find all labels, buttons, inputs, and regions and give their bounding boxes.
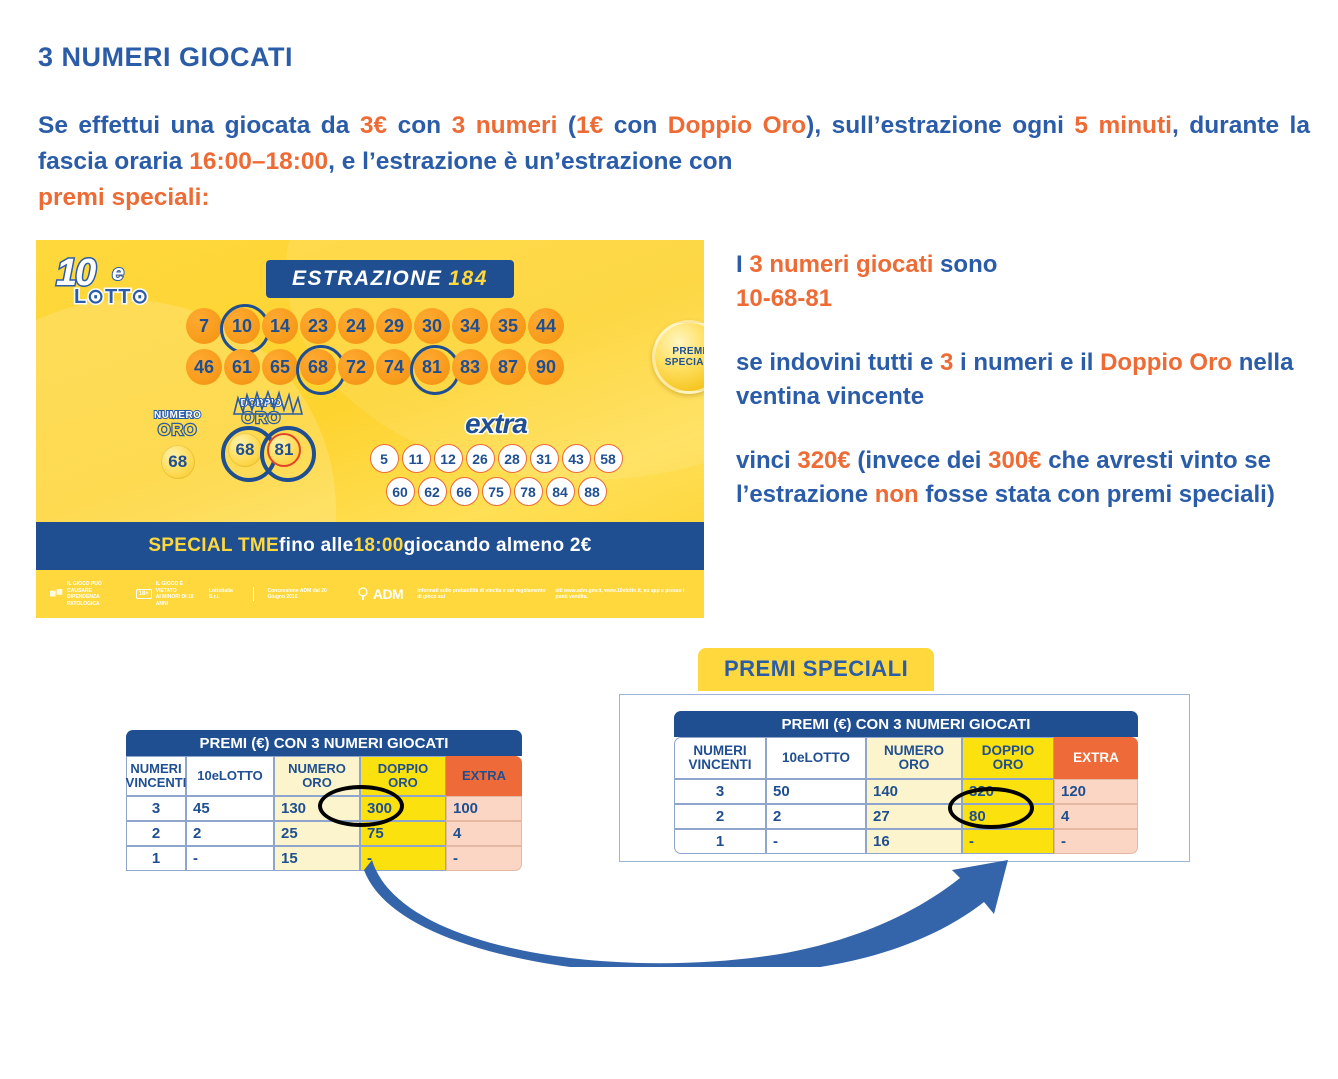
age-badge-icon: 18+ bbox=[136, 589, 152, 600]
ticket-legal-footer: IL GIOCO PUÒ CAUSAREDIPENDENZA PATOLOGIC… bbox=[36, 570, 704, 618]
seal-text: PREMISPECIALI bbox=[665, 346, 704, 368]
estrazione-number: 184 bbox=[448, 267, 488, 290]
intro-doppio-oro: Doppio Oro bbox=[668, 112, 806, 139]
header-line: EXTRA bbox=[1073, 750, 1119, 765]
extra-block: extra 511122628314358 60626675788488 bbox=[362, 408, 630, 510]
number-ball-23: 23 bbox=[300, 308, 336, 344]
table-cell-r1-c2: 25 bbox=[274, 821, 360, 846]
table-cell-r1-c4: 4 bbox=[446, 821, 522, 846]
main-numbers-row-1: 7101423242930343544 bbox=[186, 308, 564, 344]
table-cell-r1-c1: 2 bbox=[766, 804, 866, 829]
explanation-paragraph-3: vinci 320€ (invece dei 300€ che avresti … bbox=[736, 444, 1316, 512]
prize-table-special-title: PREMI (€) CON 3 NUMERI GIOCATI bbox=[674, 711, 1138, 737]
table-cell-r2-c3: - bbox=[962, 829, 1054, 854]
header-line: VINCENTI bbox=[688, 757, 751, 772]
numero-oro-label-big: ORO bbox=[154, 422, 201, 439]
explanation-paragraph-2: se indovini tutti e 3 i numeri e il Dopp… bbox=[736, 346, 1316, 414]
number-ball-35: 35 bbox=[490, 308, 526, 344]
extra-logo: extra bbox=[362, 408, 630, 440]
header-line: EXTRA bbox=[462, 768, 506, 783]
p3-text-1: vinci bbox=[736, 447, 797, 474]
extra-ball-43: 43 bbox=[562, 444, 591, 473]
prize-table-special-grid: NUMERIVINCENTI10eLOTTONUMEROORODOPPIOORO… bbox=[674, 737, 1138, 854]
number-ball-24: 24 bbox=[338, 308, 374, 344]
table-header-3: DOPPIOORO bbox=[360, 756, 446, 796]
gambling-warning-1-text: IL GIOCO PUÒ CAUSAREDIPENDENZA PATOLOGIC… bbox=[67, 581, 121, 607]
extra-ball-28: 28 bbox=[498, 444, 527, 473]
extra-ball-60: 60 bbox=[386, 477, 415, 506]
header-line: 10eLOTTO bbox=[197, 768, 263, 783]
number-ball-72: 72 bbox=[338, 349, 374, 385]
number-ball-30: 30 bbox=[414, 308, 450, 344]
footer-divider bbox=[253, 587, 254, 601]
number-ball-61: 61 bbox=[224, 349, 260, 385]
estrazione-label: ESTRAZIONE bbox=[292, 267, 442, 290]
logo-e-text: e bbox=[112, 260, 124, 286]
p3-standard-amount: 300€ bbox=[988, 447, 1041, 474]
table-header-1: 10eLOTTO bbox=[186, 756, 274, 796]
age-restriction-text: IL GIOCO È VIETATOAI MINORI DI 18 ANNI bbox=[156, 581, 195, 607]
doppio-oro-ball-81: 81 bbox=[267, 433, 301, 467]
number-ball-34: 34 bbox=[452, 308, 488, 344]
starburst-icon bbox=[232, 388, 306, 418]
table-cell-r0-c3: 320 bbox=[962, 779, 1054, 804]
table-cell-r1-c0: 2 bbox=[674, 804, 766, 829]
extra-ball-58: 58 bbox=[594, 444, 623, 473]
intro-premi-speciali: premi speciali: bbox=[38, 180, 1310, 216]
intro-text-4: con bbox=[603, 112, 667, 139]
number-ball-81: 81 bbox=[414, 349, 450, 385]
table-cell-r1-c4: 4 bbox=[1054, 804, 1138, 829]
intro-amount-3eur: 3€ bbox=[360, 112, 387, 139]
extra-ball-66: 66 bbox=[450, 477, 479, 506]
special-tme-text-1: fino alle bbox=[279, 535, 354, 557]
intro-amount-1eur: 1€ bbox=[576, 112, 603, 139]
table-cell-r0-c4: 100 bbox=[446, 796, 522, 821]
table-cell-r2-c0: 1 bbox=[674, 829, 766, 854]
estrazione-banner: ESTRAZIONE184 bbox=[266, 260, 514, 298]
number-ball-65: 65 bbox=[262, 349, 298, 385]
lottery-draw-ticket: 10 e L⊙TT⊙ ESTRAZIONE184 710142324293034… bbox=[36, 240, 704, 618]
page-title: 3 NUMERI GIOCATI bbox=[38, 42, 293, 73]
explanation-paragraph-1: I 3 numeri giocati sono10-68-81 bbox=[736, 248, 1316, 316]
number-ball-74: 74 bbox=[376, 349, 412, 385]
10elotto-logo: 10 e L⊙TT⊙ bbox=[52, 252, 182, 314]
extra-ball-11: 11 bbox=[402, 444, 431, 473]
numero-oro-ball: 68 bbox=[161, 445, 195, 479]
number-ball-14: 14 bbox=[262, 308, 298, 344]
table-cell-r1-c3: 80 bbox=[962, 804, 1054, 829]
p3-win-amount: 320€ bbox=[797, 447, 850, 474]
adm-text: ADM bbox=[373, 591, 403, 598]
number-ball-46: 46 bbox=[186, 349, 222, 385]
company-name: Lottoitalia S.r.l. bbox=[209, 588, 239, 601]
doppio-oro-ball-68: 68 bbox=[228, 433, 262, 467]
table-header-2: NUMEROORO bbox=[274, 756, 360, 796]
adm-logo: ADM bbox=[357, 587, 403, 601]
p2-text-2: i numeri e il bbox=[953, 349, 1100, 376]
table-cell-r1-c1: 2 bbox=[186, 821, 274, 846]
p3-text-2: (invece dei bbox=[851, 447, 988, 474]
intro-3-numeri: 3 numeri bbox=[452, 112, 558, 139]
special-tme-text-2: giocando almeno 2€ bbox=[404, 535, 592, 557]
flow-arrow-icon bbox=[360, 852, 1020, 967]
prize-table-standard-title: PREMI (€) CON 3 NUMERI GIOCATI bbox=[126, 730, 522, 756]
warn1-line1: IL GIOCO PUÒ CAUSARE bbox=[67, 581, 102, 594]
table-cell-r0-c2: 130 bbox=[274, 796, 360, 821]
table-cell-r2-c2: 15 bbox=[274, 846, 360, 871]
table-cell-r1-c3: 75 bbox=[360, 821, 446, 846]
header-line: ORO bbox=[388, 775, 418, 790]
special-tme-label: SPECIAL TME bbox=[148, 535, 279, 557]
table-header-0: NUMERIVINCENTI bbox=[126, 756, 186, 796]
doppio-oro-balls: 6881 bbox=[228, 433, 301, 467]
table-cell-r2-c2: 16 bbox=[866, 829, 962, 854]
numero-oro-block: NUMERO ORO 68 bbox=[154, 410, 201, 479]
number-ball-83: 83 bbox=[452, 349, 488, 385]
extra-ball-84: 84 bbox=[546, 477, 575, 506]
special-tme-strip: SPECIAL TME fino alle 18:00 giocando alm… bbox=[36, 522, 704, 570]
number-ball-10: 10 bbox=[224, 308, 260, 344]
prize-table-standard: PREMI (€) CON 3 NUMERI GIOCATI NUMERIVIN… bbox=[126, 730, 522, 871]
extra-ball-12: 12 bbox=[434, 444, 463, 473]
dice-icon bbox=[50, 588, 63, 600]
intro-paragraph: Se effettui una giocata da 3€ con 3 nume… bbox=[38, 108, 1310, 216]
table-header-4: EXTRA bbox=[1054, 737, 1138, 779]
numero-oro-label-small: NUMERO bbox=[154, 410, 201, 422]
age-restriction: 18+ IL GIOCO È VIETATOAI MINORI DI 18 AN… bbox=[136, 581, 195, 607]
p2-highlight-3: 3 bbox=[940, 349, 953, 376]
number-ball-68: 68 bbox=[300, 349, 336, 385]
table-cell-r2-c1: - bbox=[186, 846, 274, 871]
seal-line-1: PREMI bbox=[672, 346, 704, 357]
p3-text-4: fosse stata con premi speciali) bbox=[919, 481, 1275, 508]
concession-text: Concessione ADM dal 20 Giugno 2016 bbox=[268, 588, 343, 601]
extra-ball-31: 31 bbox=[530, 444, 559, 473]
table-header-2: NUMEROORO bbox=[866, 737, 962, 779]
warn2-line2: AI MINORI DI 18 ANNI bbox=[156, 594, 194, 607]
logo-lotto-text: L⊙TT⊙ bbox=[74, 284, 149, 309]
p2-text-1: se indovini tutti e bbox=[736, 349, 940, 376]
table-cell-r0-c3: 300 bbox=[360, 796, 446, 821]
p1-text-1: I bbox=[736, 251, 749, 278]
intro-text-7: , e l’estrazione è un’estrazione con bbox=[328, 148, 732, 175]
header-line: VINCENTI bbox=[126, 775, 187, 790]
table-header-4: EXTRA bbox=[446, 756, 522, 796]
header-line: NUMERI bbox=[693, 743, 746, 758]
premi-speciali-panel: PREMI (€) CON 3 NUMERI GIOCATI NUMERIVIN… bbox=[619, 694, 1190, 862]
table-cell-r0-c0: 3 bbox=[126, 796, 186, 821]
header-line: 10eLOTTO bbox=[782, 750, 850, 765]
table-header-3: DOPPIOORO bbox=[962, 737, 1054, 779]
intro-fascia-oraria: 16:00–18:00 bbox=[189, 148, 328, 175]
header-line: DOPPIO bbox=[982, 743, 1035, 758]
extra-ball-88: 88 bbox=[578, 477, 607, 506]
intro-text-2: con bbox=[387, 112, 451, 139]
warn2-line1: IL GIOCO È VIETATO bbox=[156, 581, 183, 594]
info-line-2: siti www.adm.gov.it, www.10elotto.it, su… bbox=[555, 588, 690, 601]
warn1-line2: DIPENDENZA PATOLOGICA bbox=[67, 594, 100, 607]
number-ball-44: 44 bbox=[528, 308, 564, 344]
number-ball-29: 29 bbox=[376, 308, 412, 344]
number-ball-90: 90 bbox=[528, 349, 564, 385]
table-cell-r2-c1: - bbox=[766, 829, 866, 854]
special-tme-time: 18:00 bbox=[354, 535, 404, 557]
extra-ball-75: 75 bbox=[482, 477, 511, 506]
numero-oro-ball-wrap: 68 bbox=[154, 445, 201, 479]
extra-ball-5: 5 bbox=[370, 444, 399, 473]
header-line: ORO bbox=[993, 757, 1024, 772]
extra-row-2: 60626675788488 bbox=[362, 477, 630, 506]
p2-doppio-oro: Doppio Oro bbox=[1100, 349, 1232, 376]
table-cell-r0-c1: 50 bbox=[766, 779, 866, 804]
seal-line-2: SPECIALI bbox=[665, 357, 704, 368]
table-cell-r2-c4: - bbox=[1054, 829, 1138, 854]
p1-text-2: sono bbox=[933, 251, 997, 278]
extra-ball-78: 78 bbox=[514, 477, 543, 506]
table-header-0: NUMERIVINCENTI bbox=[674, 737, 766, 779]
table-cell-r0-c4: 120 bbox=[1054, 779, 1138, 804]
table-cell-r0-c0: 3 bbox=[674, 779, 766, 804]
adm-emblem-icon bbox=[357, 587, 369, 601]
p1-played-numbers: 10-68-81 bbox=[736, 285, 832, 312]
extra-ball-62: 62 bbox=[418, 477, 447, 506]
header-line: NUMERO bbox=[884, 743, 944, 758]
number-ball-87: 87 bbox=[490, 349, 526, 385]
table-header-1: 10eLOTTO bbox=[766, 737, 866, 779]
info-line-1: Informati sulle probabilità di vincita e… bbox=[417, 588, 547, 601]
extra-row-1: 511122628314358 bbox=[362, 444, 630, 473]
intro-5-minuti: 5 minuti bbox=[1074, 112, 1172, 139]
table-cell-r2-c0: 1 bbox=[126, 846, 186, 871]
main-numbers-row-2: 46616568727481838790 bbox=[186, 349, 564, 385]
explanation-text: I 3 numeri giocati sono10-68-81 se indov… bbox=[736, 248, 1316, 512]
info-text: Informati sulle probabilità di vincita e… bbox=[417, 588, 690, 601]
doppio-oro-block: DOPPIO ORO 6881 bbox=[222, 398, 301, 467]
main-numbers-grid: 7101423242930343544 46616568727481838790 bbox=[186, 308, 564, 390]
intro-text-5: ), sull’estrazione ogni bbox=[806, 112, 1074, 139]
premi-speciali-tab: PREMI SPECIALI bbox=[698, 648, 934, 691]
number-ball-7: 7 bbox=[186, 308, 222, 344]
intro-text-1: Se effettui una giocata da bbox=[38, 112, 360, 139]
table-cell-r1-c0: 2 bbox=[126, 821, 186, 846]
table-cell-r0-c2: 140 bbox=[866, 779, 962, 804]
header-line: ORO bbox=[302, 775, 332, 790]
p1-highlight-numeri: 3 numeri giocati bbox=[749, 251, 933, 278]
table-cell-r0-c1: 45 bbox=[186, 796, 274, 821]
p3-highlight-non: non bbox=[875, 481, 919, 508]
gambling-warning-1: IL GIOCO PUÒ CAUSAREDIPENDENZA PATOLOGIC… bbox=[50, 581, 122, 607]
prize-table-special: PREMI (€) CON 3 NUMERI GIOCATI NUMERIVIN… bbox=[674, 711, 1138, 854]
table-cell-r1-c2: 27 bbox=[866, 804, 962, 829]
intro-text-3: ( bbox=[557, 112, 576, 139]
header-line: ORO bbox=[899, 757, 930, 772]
extra-ball-26: 26 bbox=[466, 444, 495, 473]
